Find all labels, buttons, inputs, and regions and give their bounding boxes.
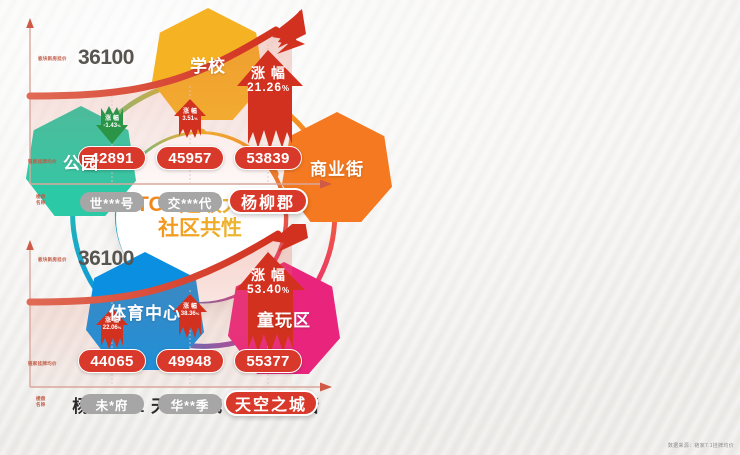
chart1-estate-1: 世***号 bbox=[80, 192, 144, 212]
node-school-label: 学校 bbox=[190, 52, 226, 77]
chart1-change-1: 涨 幅 -1.43% bbox=[93, 116, 131, 129]
chart-tiankongzhicheng: 板块新房挂价 36100 链家挂牌均价 涨 幅 22.06% 涨 幅 38.36… bbox=[0, 224, 348, 446]
chart2-estate-3: 天空之城 bbox=[224, 390, 318, 416]
chart2-change-3: 涨 幅 53.40% bbox=[241, 268, 296, 297]
node-sports-center-label: 体育中心 bbox=[109, 299, 181, 324]
node-kids-zone-label: 童玩区 bbox=[257, 306, 311, 331]
chart1-name-axis-label: 楼盘 名称 bbox=[36, 194, 46, 205]
chart2-estate-2: 华**季 bbox=[158, 394, 222, 414]
node-commercial-street-label: 商业街 bbox=[310, 155, 364, 180]
chart1-price-axis-label: 链家挂牌均价 bbox=[28, 159, 57, 165]
chart1-peak-label: 板块新房挂价 bbox=[38, 56, 67, 62]
chart1-peak-value: 36100 bbox=[78, 46, 134, 70]
chart2-peak-label: 板块新房挂价 bbox=[38, 257, 67, 263]
slide-stage: TOD超级大盘 社区共性 学校 公园 商业街 体育中心 童玩区 杨柳郡 & 天空… bbox=[0, 0, 740, 455]
chart2-price-axis-label: 链家挂牌均价 bbox=[28, 361, 57, 367]
chart2-estate-1: 未*府 bbox=[80, 394, 144, 414]
chart1-change-2: 涨 幅 3.51% bbox=[171, 109, 209, 122]
chart1-price-3: 53839 bbox=[234, 146, 302, 170]
chart2-price-1: 44065 bbox=[78, 349, 146, 373]
chart2-peak-value: 36100 bbox=[78, 247, 134, 271]
chart1-estate-2: 交***代 bbox=[158, 192, 222, 212]
chart-yangliujun: 板块新房挂价 36100 链家挂牌均价 涨 幅 -1.43% 涨 幅 3.51%… bbox=[0, 4, 348, 226]
chart1-estate-3: 杨柳郡 bbox=[228, 188, 308, 214]
chart2-name-axis-label: 楼盘 名称 bbox=[36, 396, 46, 407]
node-park-label: 公园 bbox=[63, 149, 99, 174]
source-note: 数据来源：链家7.1挂牌均价 bbox=[668, 442, 734, 449]
chart2-price-3: 55377 bbox=[234, 349, 302, 373]
chart2-price-2: 49948 bbox=[156, 349, 224, 373]
chart1-price-2: 45957 bbox=[156, 146, 224, 170]
chart1-change-3: 涨 幅 21.26% bbox=[241, 66, 296, 95]
